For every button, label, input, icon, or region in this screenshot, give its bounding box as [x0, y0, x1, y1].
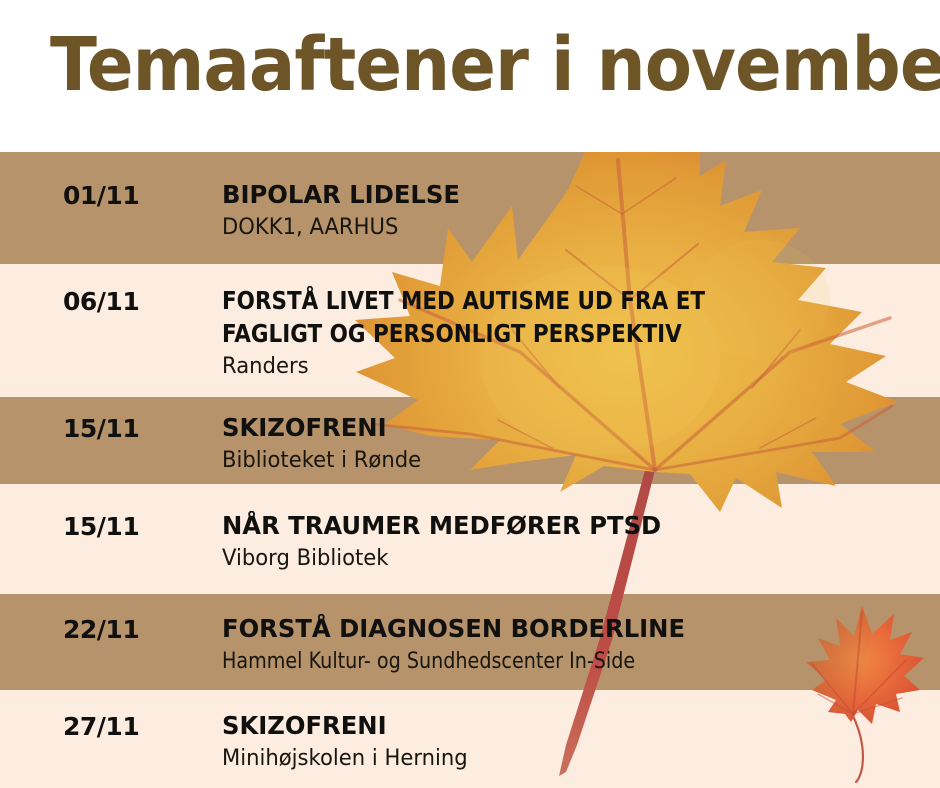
event-details: BIPOLAR LIDELSEDOKK1, AARHUS: [222, 178, 940, 242]
event-venue: Hammel Kultur- og Sundhedscenter In-Side: [222, 648, 847, 676]
page-title: Temaaftener i november: [50, 22, 940, 108]
poster-header: Temaaftener i november: [0, 0, 940, 152]
event-details: NÅR TRAUMER MEDFØRER PTSDViborg Bibliote…: [222, 509, 940, 573]
event-details: FORSTÅ DIAGNOSEN BORDERLINEHammel Kultur…: [222, 612, 940, 676]
event-title-line: FORSTÅ LIVET MED AUTISME UD FRA ET: [222, 284, 839, 317]
event-details: SKIZOFRENIBiblioteket i Rønde: [222, 411, 940, 475]
event-row[interactable]: 01/11BIPOLAR LIDELSEDOKK1, AARHUS: [0, 152, 940, 264]
event-title-line: SKIZOFRENI: [222, 411, 918, 444]
event-row[interactable]: 15/11NÅR TRAUMER MEDFØRER PTSDViborg Bib…: [0, 484, 940, 594]
event-list: 01/11BIPOLAR LIDELSEDOKK1, AARHUS06/11FO…: [0, 152, 940, 788]
poster-canvas: Temaaftener i november 01/11BIPOLAR LIDE…: [0, 0, 940, 788]
event-title-line: NÅR TRAUMER MEDFØRER PTSD: [222, 509, 918, 542]
event-title-line: BIPOLAR LIDELSE: [222, 178, 918, 211]
event-row[interactable]: 22/11FORSTÅ DIAGNOSEN BORDERLINEHammel K…: [0, 594, 940, 690]
event-venue: DOKK1, AARHUS: [222, 214, 911, 242]
event-details: FORSTÅ LIVET MED AUTISME UD FRA ETFAGLIG…: [222, 284, 940, 381]
event-date: 15/11: [63, 512, 139, 541]
event-date: 06/11: [63, 287, 139, 316]
event-venue: Randers: [222, 353, 911, 381]
event-details: SKIZOFRENIMinihøjskolen i Herning: [222, 709, 940, 773]
event-title-line: FORSTÅ DIAGNOSEN BORDERLINE: [222, 612, 918, 645]
event-venue: Biblioteket i Rønde: [222, 447, 911, 475]
event-row[interactable]: 27/11SKIZOFRENIMinihøjskolen i Herning: [0, 690, 940, 788]
event-row[interactable]: 15/11SKIZOFRENIBiblioteket i Rønde: [0, 397, 940, 484]
event-date: 27/11: [63, 712, 139, 741]
event-venue: Viborg Bibliotek: [222, 545, 911, 573]
event-date: 01/11: [63, 181, 139, 210]
event-date: 15/11: [63, 414, 139, 443]
event-date: 22/11: [63, 615, 139, 644]
event-title-line: FAGLIGT OG PERSONLIGT PERSPEKTIV: [222, 317, 839, 350]
event-row[interactable]: 06/11FORSTÅ LIVET MED AUTISME UD FRA ETF…: [0, 264, 940, 397]
event-title-line: SKIZOFRENI: [222, 709, 918, 742]
event-venue: Minihøjskolen i Herning: [222, 745, 911, 773]
